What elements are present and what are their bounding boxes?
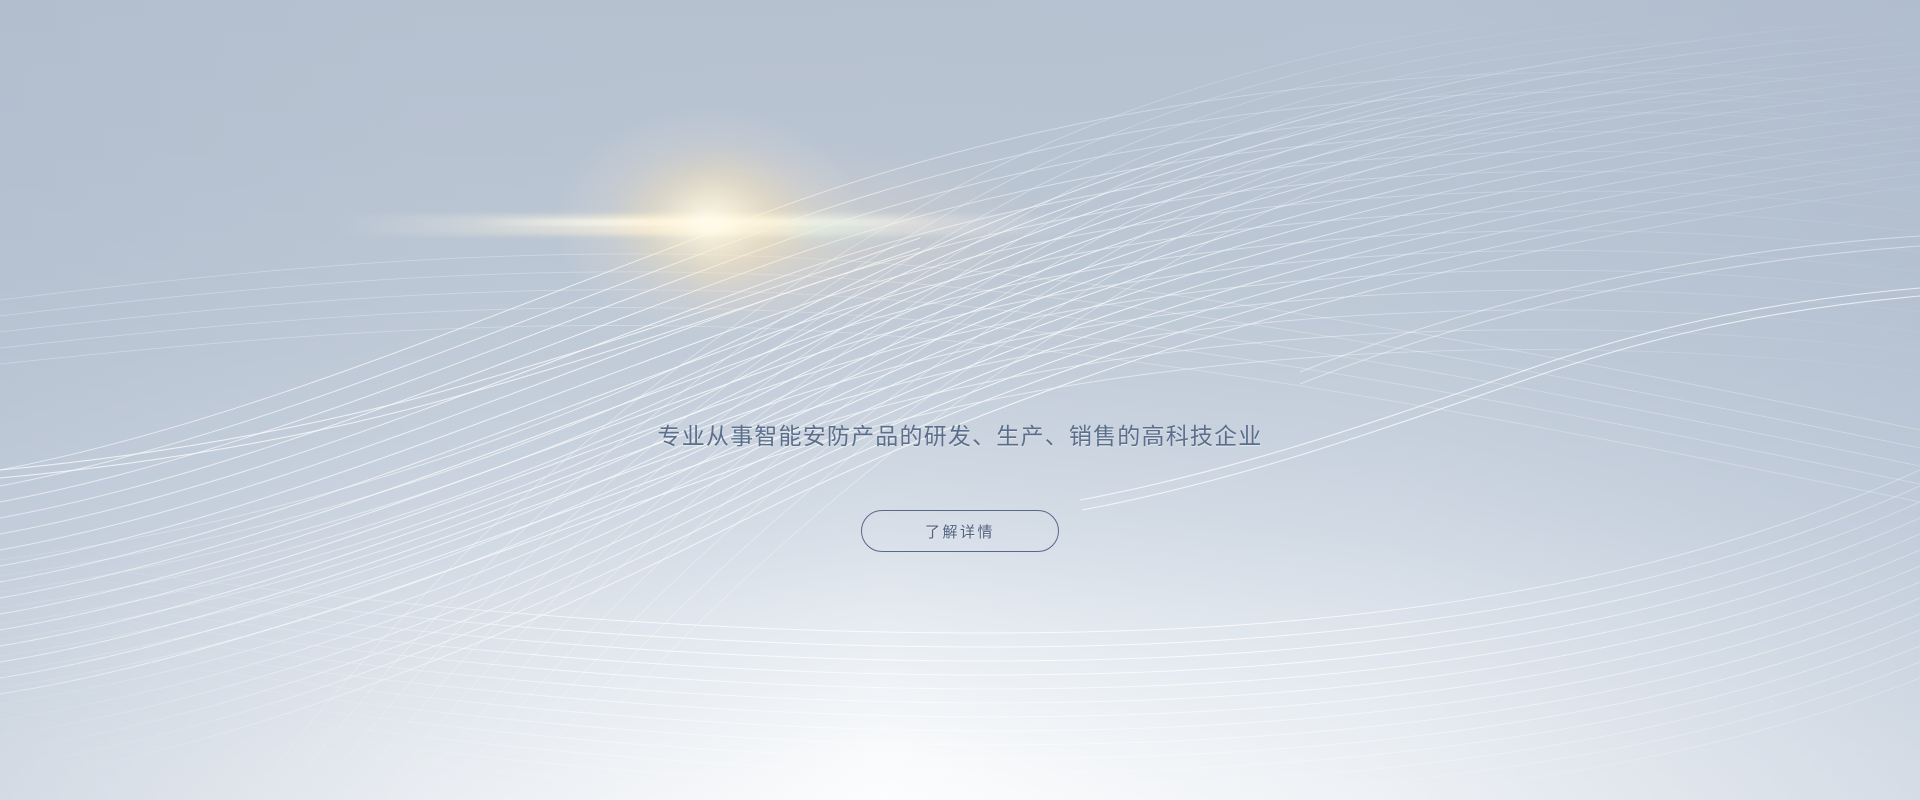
hero-headline-text: 以智能视觉处理技术为核心: [492, 290, 1428, 379]
hero-banner: 以智能视觉处理技术为核心 专业从事智能安防产品的研发、生产、销售的高科技企业 了…: [0, 0, 1920, 800]
hero-cta-container: 了解详情: [0, 510, 1920, 552]
hero-headline: 以智能视觉处理技术为核心: [0, 297, 1920, 373]
hero-content: 以智能视觉处理技术为核心 专业从事智能安防产品的研发、生产、销售的高科技企业 了…: [0, 0, 1920, 800]
hero-subtitle: 专业从事智能安防产品的研发、生产、销售的高科技企业: [0, 421, 1920, 453]
learn-more-button-label: 了解详情: [925, 521, 995, 542]
learn-more-button[interactable]: 了解详情: [861, 510, 1059, 552]
